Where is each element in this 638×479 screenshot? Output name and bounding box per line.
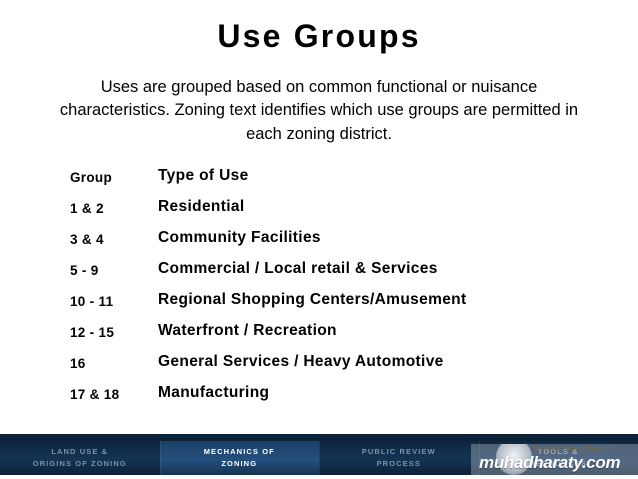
footer-segment-mechanics-of-zoning[interactable]: MECHANICS OFZONING [160, 441, 320, 475]
footer-segment-tools-resources[interactable]: TOOLS &RESOURCES [479, 441, 638, 475]
cell-type-of-use: Manufacturing [158, 384, 269, 402]
table-row: 16 General Services / Heavy Automotive [0, 352, 638, 383]
cell-type-of-use: Residential [158, 198, 245, 216]
cell-group: 12 - 15 [70, 325, 114, 340]
page-title: Use Groups [0, 18, 638, 55]
cell-group: 10 - 11 [70, 294, 113, 309]
cell-type-of-use: Regional Shopping Centers/Amusement [158, 291, 467, 309]
table-row: 17 & 18 Manufacturing [0, 383, 638, 414]
cell-type-of-use: General Services / Heavy Automotive [158, 353, 444, 371]
footer-segment-bar: LAND USE &ORIGINS OF ZONING MECHANICS OF… [0, 441, 638, 475]
cell-type-of-use: Community Facilities [158, 229, 321, 247]
cell-group: 1 & 2 [70, 201, 104, 216]
cell-group: 3 & 4 [70, 232, 104, 247]
cell-type-of-use: Commercial / Local retail & Services [158, 260, 438, 278]
table-row: 12 - 15 Waterfront / Recreation [0, 321, 638, 352]
slide-canvas: Use Groups Uses are grouped based on com… [0, 0, 638, 479]
footer-bottom-strip [0, 475, 638, 479]
table-row: 10 - 11 Regional Shopping Centers/Amusem… [0, 290, 638, 321]
cell-type-of-use: Waterfront / Recreation [158, 322, 337, 340]
table-row: 3 & 4 Community Facilities [0, 228, 638, 259]
slide-subtitle: Uses are grouped based on common functio… [56, 76, 582, 146]
footer-navigation: LAND USE &ORIGINS OF ZONING MECHANICS OF… [0, 434, 638, 479]
column-header-group: Group [70, 170, 112, 185]
use-groups-table: Group Type of Use 1 & 2 Residential 3 & … [0, 166, 638, 414]
table-header-row: Group Type of Use [0, 166, 638, 197]
cell-group: 16 [70, 356, 86, 371]
cell-group: 17 & 18 [70, 387, 119, 402]
footer-top-strip [0, 434, 638, 441]
footer-segment-public-review-process[interactable]: PUBLIC REVIEWPROCESS [319, 441, 479, 475]
table-row: 1 & 2 Residential [0, 197, 638, 228]
cell-group: 5 - 9 [70, 263, 99, 278]
footer-segment-land-use-origins-of-zoning[interactable]: LAND USE &ORIGINS OF ZONING [0, 441, 160, 475]
table-row: 5 - 9 Commercial / Local retail & Servic… [0, 259, 638, 290]
column-header-type-of-use: Type of Use [158, 167, 249, 185]
